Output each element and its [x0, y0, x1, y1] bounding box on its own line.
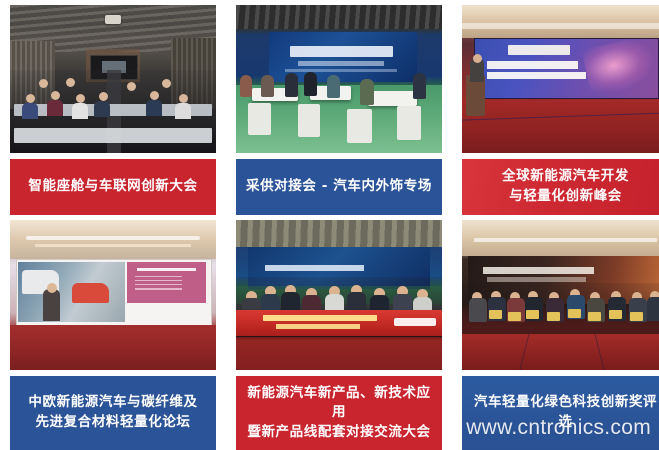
slide-bullet-text [135, 280, 182, 282]
slide-title-text [137, 268, 196, 272]
event-card-6-caption-text: 汽车轻量化绿色科技创新奖评选 [468, 393, 659, 432]
meeting-table [368, 91, 417, 106]
matchmaking-meeting-photo [236, 5, 442, 153]
banner-subtitle-text [298, 61, 385, 65]
event-card-2[interactable]: 采供对接会 - 汽车内外饰专场 [236, 5, 442, 215]
screen-headline-line-1 [487, 61, 578, 68]
slide-bullet-text [135, 288, 182, 290]
ballroom-ceiling [462, 220, 659, 256]
event-card-1-caption: 智能座舱与车联网创新大会 [10, 159, 216, 215]
group-red-banner-photo [236, 220, 442, 370]
screen-headline-line-2 [487, 72, 586, 79]
attendee-figure [327, 75, 340, 98]
pink-slide-panel [127, 262, 205, 303]
attendee-head [99, 92, 108, 101]
forum-presentation-photo [10, 220, 216, 370]
event-photo-gallery: 智能座舱与车联网创新大会 采供对接会 - 汽车内 [0, 0, 659, 445]
red-carpet-floor [462, 100, 659, 153]
attendee-figure [413, 73, 426, 99]
red-group-banner [236, 310, 442, 336]
person-body [469, 298, 487, 322]
ballroom-ceiling [462, 5, 659, 38]
ceiling-truss [236, 5, 442, 29]
award-trophy [609, 310, 622, 319]
ballroom-ceiling [10, 220, 216, 259]
award-trophy [588, 312, 601, 321]
attendee-figure [360, 79, 374, 105]
event-card-5-caption: 新能源汽车新产品、新技术应用 暨新产品线配套对接交流大会 [236, 376, 442, 450]
award-trophy [489, 310, 502, 319]
speaker-figure [43, 289, 60, 321]
attendee-body [72, 103, 88, 119]
folding-chair [248, 103, 271, 136]
attendee-head [39, 79, 48, 88]
event-card-3-caption: 全球新能源汽车开发 与轻量化创新峰会 [462, 159, 659, 215]
glev-2021-stage-photo [462, 5, 659, 153]
award-trophy [508, 312, 521, 321]
backdrop-headline-text [483, 267, 595, 275]
award-trophy [547, 312, 560, 321]
attendee-head [66, 78, 75, 87]
award-trophy [526, 310, 539, 319]
attendee-body [146, 100, 162, 116]
folding-chair [347, 109, 372, 143]
event-card-4-caption: 中欧新能源汽车与碳纤维及 先进复合材料轻量化论坛 [10, 376, 216, 450]
person-body [647, 297, 659, 321]
attendee-body [175, 103, 191, 119]
folding-chair [298, 104, 321, 137]
attendee-figure [261, 75, 274, 97]
event-card-2-caption: 采供对接会 - 汽车内外饰专场 [236, 159, 442, 215]
event-card-3[interactable]: 全球新能源汽车开发 与轻量化创新峰会 [462, 5, 659, 215]
event-card-1[interactable]: 智能座舱与车联网创新大会 [10, 5, 216, 215]
event-card-6-caption: 汽车轻量化绿色科技创新奖评选 [462, 376, 659, 450]
attendee-figure [285, 73, 298, 97]
ceiling-truss [236, 220, 442, 247]
attendee-body [22, 103, 38, 119]
red-carpet-floor [236, 337, 442, 370]
award-trophy [630, 312, 643, 321]
attendee-body [94, 101, 110, 117]
attendee-figure [240, 75, 252, 97]
event-card-2-caption-text: 采供对接会 - 汽车内外饰专场 [246, 177, 432, 197]
conference-auditorium-photo [10, 5, 216, 153]
banner-title-text [290, 46, 393, 56]
wall-headline-text [265, 265, 364, 271]
desk-row [14, 128, 212, 143]
attendee-head [150, 91, 159, 100]
event-card-4-caption-text: 中欧新能源汽车与碳纤维及 先进复合材料轻量化论坛 [28, 393, 197, 432]
banner-line-2-text [276, 324, 360, 329]
slide-bullet-text [135, 284, 182, 286]
attendee-head [76, 94, 85, 103]
event-card-1-caption-text: 智能座舱与车联网创新大会 [28, 177, 197, 197]
event-card-5-caption-text: 新能源汽车新产品、新技术应用 暨新产品线配套对接交流大会 [242, 384, 436, 443]
attendee-figure [304, 72, 317, 96]
projector-icon [105, 15, 121, 24]
red-carpet-floor [462, 334, 659, 370]
attendee-body [47, 100, 63, 116]
award-trophy [568, 309, 581, 318]
attendee-head [51, 91, 60, 100]
event-card-6[interactable]: 汽车轻量化绿色科技创新奖评选 [462, 220, 659, 450]
car-image [72, 283, 109, 303]
slide-bullet-text [135, 276, 182, 278]
banner-detail-text [285, 69, 396, 72]
folding-chair [397, 106, 422, 140]
backdrop-subtitle-text [487, 277, 586, 282]
red-carpet-floor [10, 325, 216, 370]
attendee-head [179, 94, 188, 103]
event-card-4[interactable]: 中欧新能源汽车与碳纤维及 先进复合材料轻量化论坛 [10, 220, 216, 450]
award-ceremony-photo [462, 220, 659, 370]
glev-2021-title-text [508, 45, 570, 55]
event-card-3-caption-text: 全球新能源汽车开发 与轻量化创新峰会 [502, 167, 629, 206]
banner-logo [394, 318, 436, 327]
event-card-5[interactable]: 新能源汽车新产品、新技术应用 暨新产品线配套对接交流大会 [236, 220, 442, 450]
banner-line-1-text [263, 315, 376, 321]
